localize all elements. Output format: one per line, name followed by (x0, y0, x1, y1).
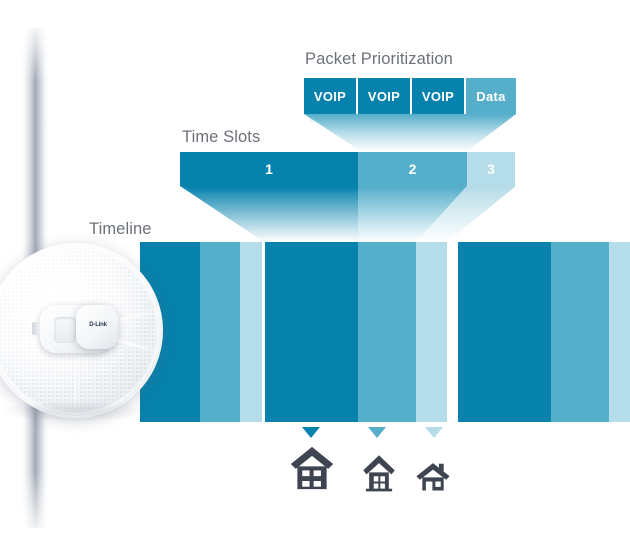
funnel-1-shape (304, 114, 516, 152)
time-slot-2: 2 (358, 152, 467, 186)
packet-segment-label: VOIP (368, 89, 400, 104)
timeline-label: Timeline (89, 220, 152, 239)
pole-fade-bottom (18, 470, 54, 540)
arrow-medium-house (368, 427, 386, 438)
house-icon-large-house (286, 442, 338, 494)
packet-prioritization-bar: VOIPVOIPVOIPData (304, 78, 516, 114)
house-icon-medium-house (358, 452, 400, 494)
timeline-segment-1-3 (240, 242, 262, 422)
dlink-logo: D-Link (83, 322, 113, 328)
time-slot-3: 3 (467, 152, 515, 186)
arrow-small-house (425, 427, 443, 438)
packet-segment-4: Data (466, 78, 516, 114)
packet-segment-2: VOIP (358, 78, 410, 114)
dish-feed-slot (54, 317, 76, 343)
time-slots-bar: 123 (180, 152, 515, 186)
packet-segment-1: VOIP (304, 78, 356, 114)
timeline-segment-1-2 (200, 242, 240, 422)
time-slot-label: 3 (487, 161, 495, 177)
packet-segment-label: VOIP (422, 89, 454, 104)
timeline-bars (140, 242, 630, 422)
dish-shadow (0, 400, 154, 422)
timeline-segment-3-1 (458, 242, 551, 422)
packet-prioritization-label: Packet Prioritization (305, 50, 453, 69)
timeline-segment-3-3 (609, 242, 630, 422)
packet-segment-3: VOIP (412, 78, 464, 114)
packet-segment-label: VOIP (314, 89, 346, 104)
pole-fade-top (18, 20, 54, 82)
time-slot-label: 1 (265, 161, 273, 177)
dish-feed-nub (32, 322, 40, 335)
time-slot-label: 2 (409, 161, 417, 177)
timeline-group-2 (265, 242, 447, 422)
timeline-segment-3-2 (551, 242, 609, 422)
time-slot-1: 1 (180, 152, 358, 186)
timeline-segment-2-1 (265, 242, 358, 422)
house-icon-small-house (414, 456, 452, 494)
time-slots-label: Time Slots (182, 128, 260, 147)
dish-antenna: D-Link (0, 243, 163, 418)
funnel-packet-to-slots (304, 114, 516, 152)
timeline-segment-2-2 (358, 242, 416, 422)
diagram-canvas: Packet Prioritization Time Slots Timelin… (0, 0, 630, 559)
packet-segment-label: Data (476, 89, 505, 104)
funnel-slots-to-timeline (180, 186, 516, 242)
timeline-segment-2-3 (416, 242, 447, 422)
timeline-group-3 (458, 242, 630, 422)
arrow-large-house (302, 427, 320, 438)
